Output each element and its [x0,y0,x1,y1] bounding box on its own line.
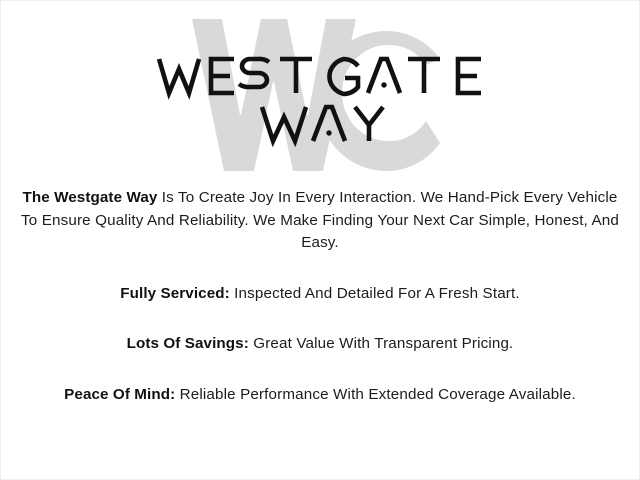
westgate-way-wordmark [155,51,485,147]
feature-fully-serviced-body: Inspected And Detailed For A Fresh Start… [230,285,520,302]
intro-paragraph: The Westgate Way Is To Create Joy In Eve… [17,187,623,255]
logo-stack [110,15,530,187]
feature-fully-serviced-label: Fully Serviced: [120,285,230,302]
feature-lots-of-savings: Lots Of Savings: Great Value With Transp… [17,333,623,356]
feature-fully-serviced: Fully Serviced: Inspected And Detailed F… [17,283,623,306]
feature-lots-of-savings-label: Lots Of Savings: [127,335,249,352]
feature-peace-of-mind-label: Peace Of Mind: [64,386,175,403]
intro-lead-in: The Westgate Way [22,189,157,206]
feature-lots-of-savings-body: Great Value With Transparent Pricing. [249,335,514,352]
logo-block [1,1,639,187]
feature-peace-of-mind: Peace Of Mind: Reliable Performance With… [17,384,623,407]
feature-peace-of-mind-body: Reliable Performance With Extended Cover… [175,386,576,403]
promo-card: The Westgate Way Is To Create Joy In Eve… [0,0,640,480]
copy-block: The Westgate Way Is To Create Joy In Eve… [1,187,639,407]
